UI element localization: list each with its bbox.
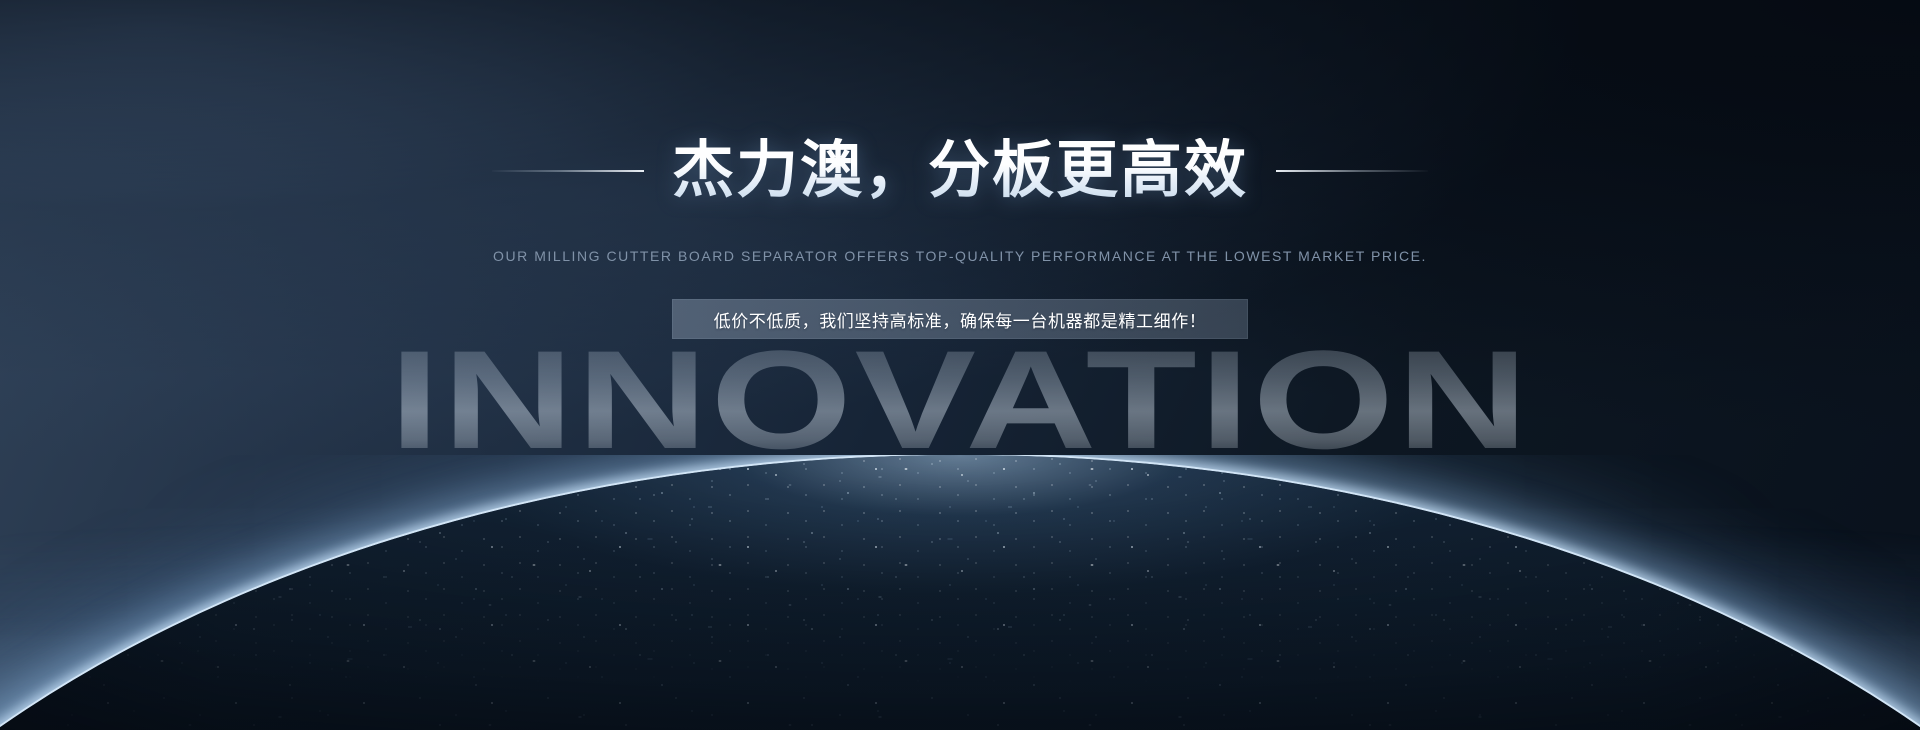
- decorative-rule-right: [1276, 170, 1428, 172]
- hero-subtitle: OUR MILLING CUTTER BOARD SEPARATOR OFFER…: [0, 248, 1920, 264]
- city-lights: [0, 455, 1920, 730]
- slogan-text: 低价不低质，我们坚持高标准，确保每一台机器都是精工细作！: [714, 307, 1207, 332]
- hero-banner: INNOVATION 杰力澳，分板更高效 OUR MILLING CUTTER …: [0, 0, 1920, 730]
- earth-scene: [0, 455, 1920, 730]
- slogan-bar: 低价不低质，我们坚持高标准，确保每一台机器都是精工细作！: [672, 299, 1248, 339]
- decorative-rule-left: [492, 170, 644, 172]
- city-lights-terminator-band: [0, 455, 1920, 730]
- page-title: 杰力澳，分板更高效: [672, 138, 1248, 205]
- headline-row: 杰力澳，分板更高效: [0, 138, 1920, 205]
